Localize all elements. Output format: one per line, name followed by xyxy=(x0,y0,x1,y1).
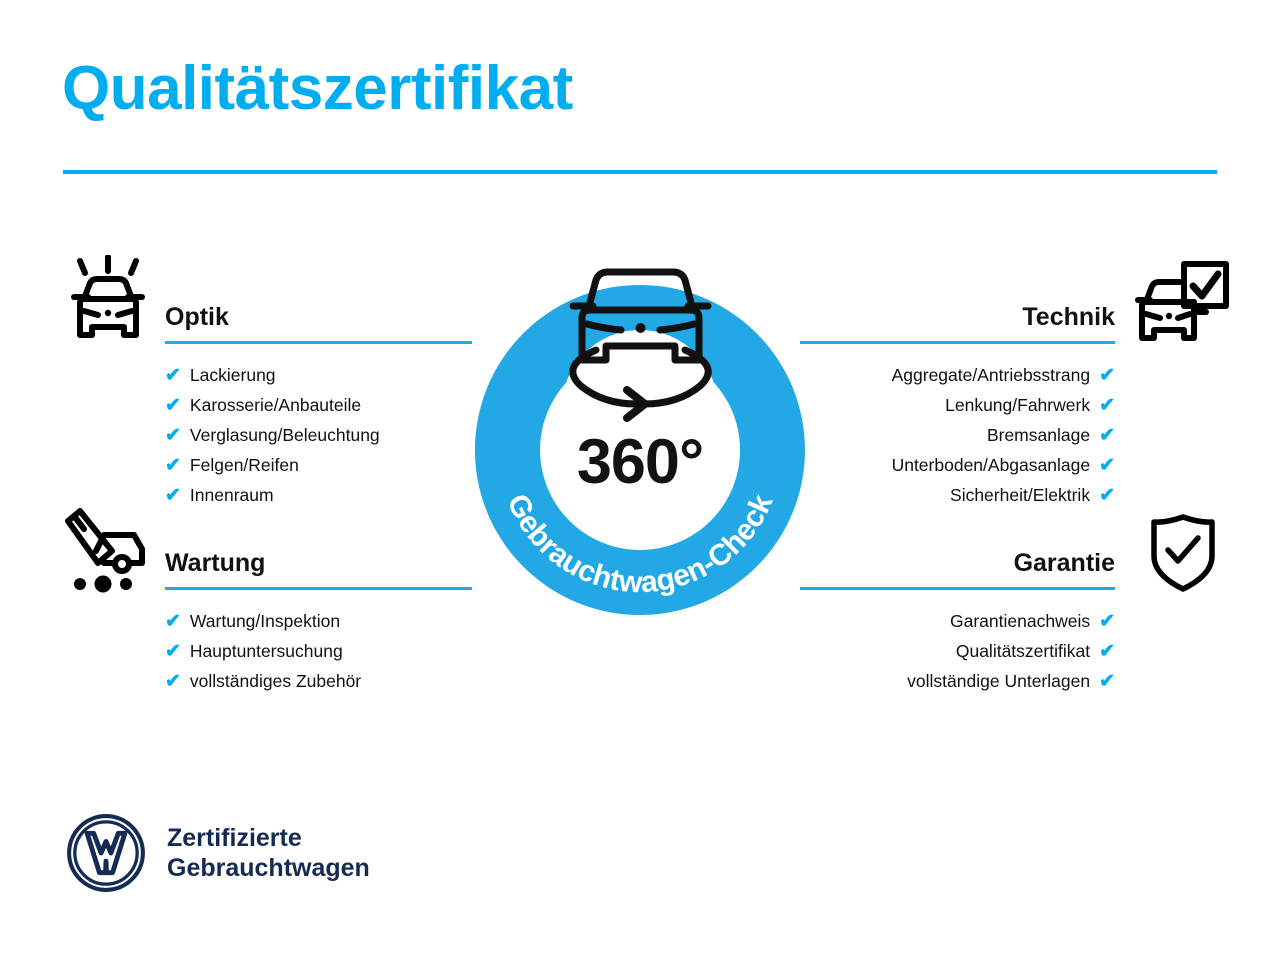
section-heading-garantie: Garantie xyxy=(800,551,1115,576)
section-divider-garantie xyxy=(800,587,1115,590)
list-item: ✔ vollständiges Zubehör xyxy=(165,666,472,696)
check-icon: ✔ xyxy=(1099,456,1115,475)
shield-check-icon xyxy=(1148,512,1248,604)
section-divider-optik xyxy=(165,341,472,344)
list-item: Aggregate/Antriebsstrang ✔ xyxy=(800,360,1115,390)
list-item-label: Innenraum xyxy=(190,480,274,510)
section-divider-wartung xyxy=(165,587,472,590)
checklist-technik: Aggregate/Antriebsstrang ✔ Lenkung/Fahrw… xyxy=(800,360,1115,510)
check-icon: ✔ xyxy=(1099,672,1115,691)
check-icon: ✔ xyxy=(165,396,181,415)
section-divider-technik xyxy=(800,341,1115,344)
list-item: Sicherheit/Elektrik ✔ xyxy=(800,480,1115,510)
check-icon: ✔ xyxy=(1099,612,1115,631)
list-item-label: Unterboden/Abgasanlage xyxy=(892,450,1091,480)
page-title: Qualitätszertifikat xyxy=(62,56,573,121)
list-item-label: Verglasung/Beleuchtung xyxy=(190,420,380,450)
section-technik: Technik Aggregate/Antriebsstrang ✔ Lenku… xyxy=(800,305,1115,510)
checklist-wartung: ✔ Wartung/Inspektion ✔ Hauptuntersuchung… xyxy=(165,606,472,696)
list-item-label: Aggregate/Antriebsstrang xyxy=(892,360,1090,390)
check-icon: ✔ xyxy=(1099,396,1115,415)
list-item: ✔ Innenraum xyxy=(165,480,472,510)
section-optik: Optik ✔ Lackierung ✔ Karosserie/Anbautei… xyxy=(165,305,472,510)
list-item: vollständige Unterlagen ✔ xyxy=(800,666,1115,696)
list-item-label: vollständiges Zubehör xyxy=(190,666,361,696)
list-item: ✔ Wartung/Inspektion xyxy=(165,606,472,636)
list-item: Unterboden/Abgasanlage ✔ xyxy=(800,450,1115,480)
check-icon: ✔ xyxy=(165,672,181,691)
list-item: ✔ Lackierung xyxy=(165,360,472,390)
list-item-label: Qualitätszertifikat xyxy=(956,636,1090,666)
list-item: ✔ Verglasung/Beleuchtung xyxy=(165,420,472,450)
360-gebrauchtwagen-check-badge: Gebrauchtwagen-Check 360° xyxy=(450,248,830,638)
check-icon: ✔ xyxy=(1099,366,1115,385)
check-icon: ✔ xyxy=(1099,486,1115,505)
quality-certificate-page: Qualitätszertifikat xyxy=(0,0,1280,960)
list-item-label: Karosserie/Anbauteile xyxy=(190,390,361,420)
checklist-garantie: Garantienachweis ✔ Qualitätszertifikat ✔… xyxy=(800,606,1115,696)
list-item-label: vollständige Unterlagen xyxy=(907,666,1090,696)
section-heading-technik: Technik xyxy=(800,305,1115,330)
check-icon: ✔ xyxy=(1099,642,1115,661)
section-heading-wartung: Wartung xyxy=(165,551,472,576)
check-icon: ✔ xyxy=(165,366,181,385)
list-item: Bremsanlage ✔ xyxy=(800,420,1115,450)
check-icon: ✔ xyxy=(165,486,181,505)
header-divider xyxy=(63,170,1217,174)
check-icon: ✔ xyxy=(165,456,181,475)
list-item: ✔ Karosserie/Anbauteile xyxy=(165,390,472,420)
vw-certified-lockup: Zertifizierte Gebrauchtwagen xyxy=(65,812,370,894)
check-icon: ✔ xyxy=(1099,426,1115,445)
list-item-label: Lenkung/Fahrwerk xyxy=(945,390,1090,420)
list-item: Garantienachweis ✔ xyxy=(800,606,1115,636)
check-icon: ✔ xyxy=(165,612,181,631)
checklist-optik: ✔ Lackierung ✔ Karosserie/Anbauteile ✔ V… xyxy=(165,360,472,510)
list-item-label: Garantienachweis xyxy=(950,606,1090,636)
vw-lockup-text: Zertifizierte Gebrauchtwagen xyxy=(167,823,370,884)
list-item-label: Wartung/Inspektion xyxy=(190,606,340,636)
list-item-label: Lackierung xyxy=(190,360,276,390)
car-checkbox-icon xyxy=(1132,256,1232,348)
list-item: ✔ Hauptuntersuchung xyxy=(165,636,472,666)
pencil-car-service-icon xyxy=(58,505,158,597)
vw-logo xyxy=(65,812,147,894)
badge-number: 360° xyxy=(450,426,830,498)
list-item: Lenkung/Fahrwerk ✔ xyxy=(800,390,1115,420)
list-item: Qualitätszertifikat ✔ xyxy=(800,636,1115,666)
list-item-label: Bremsanlage xyxy=(987,420,1090,450)
section-wartung: Wartung ✔ Wartung/Inspektion ✔ Hauptunte… xyxy=(165,551,472,696)
list-item: ✔ Felgen/Reifen xyxy=(165,450,472,480)
car-shine-icon xyxy=(58,255,158,347)
list-item-label: Felgen/Reifen xyxy=(190,450,299,480)
list-item-label: Hauptuntersuchung xyxy=(190,636,343,666)
vw-lockup-line2: Gebrauchtwagen xyxy=(167,853,370,884)
check-icon: ✔ xyxy=(165,426,181,445)
check-icon: ✔ xyxy=(165,642,181,661)
list-item-label: Sicherheit/Elektrik xyxy=(950,480,1090,510)
vw-lockup-line1: Zertifizierte xyxy=(167,823,370,854)
section-garantie: Garantie Garantienachweis ✔ Qualitätszer… xyxy=(800,551,1115,696)
section-heading-optik: Optik xyxy=(165,305,472,330)
